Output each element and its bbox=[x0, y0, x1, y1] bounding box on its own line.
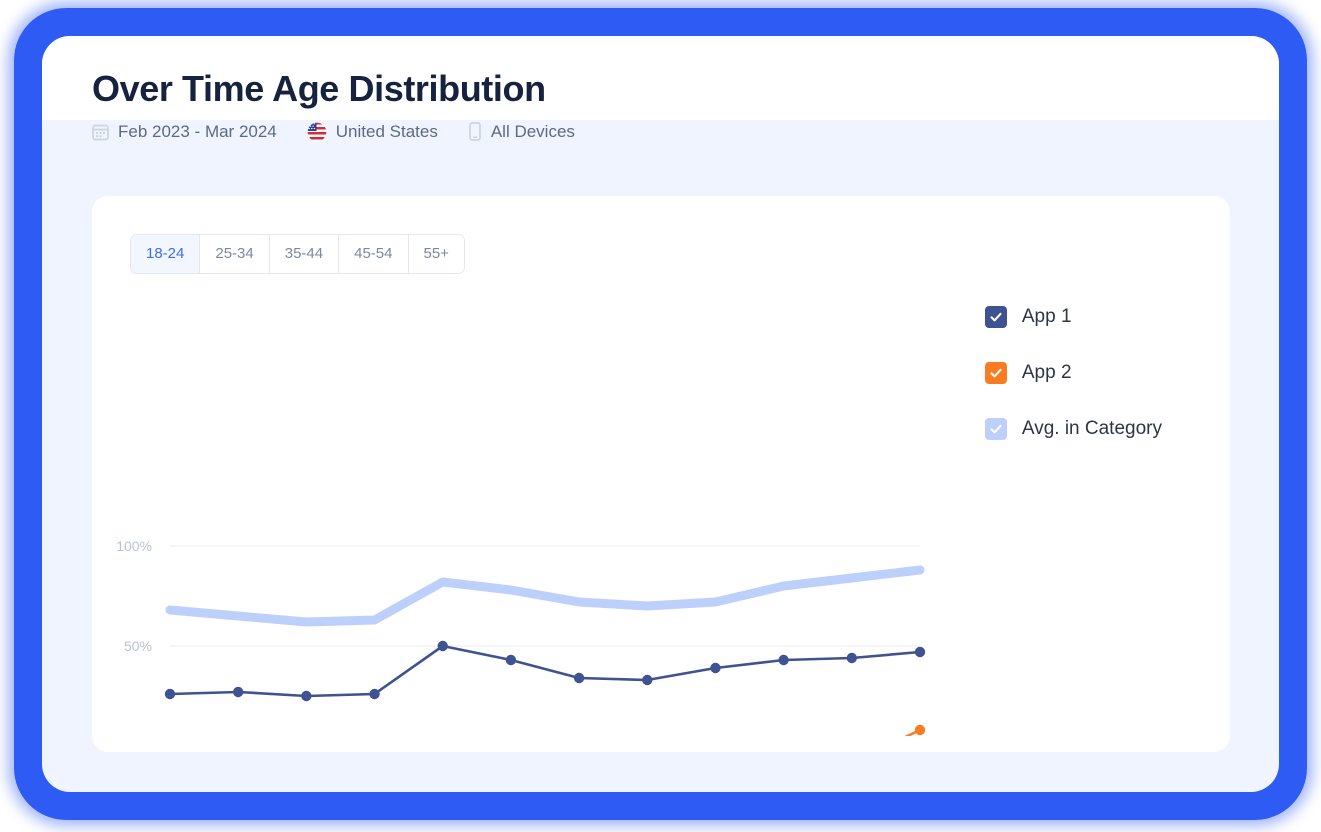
data-point bbox=[915, 725, 925, 735]
data-point bbox=[778, 655, 788, 665]
age-tab-25-34[interactable]: 25-34 bbox=[200, 235, 269, 273]
legend-label: Avg. in Category bbox=[1022, 418, 1162, 440]
device-icon bbox=[468, 122, 482, 141]
data-point bbox=[642, 675, 652, 685]
y-axis-tick-label: 100% bbox=[116, 538, 152, 554]
blue-outer-frame: Over Time Age Distribution bbox=[14, 8, 1307, 820]
legend-item-avg-in-category[interactable]: Avg. in Category bbox=[985, 418, 1162, 440]
data-point bbox=[710, 663, 720, 673]
calendar-icon bbox=[92, 123, 109, 141]
country-label: United States bbox=[336, 122, 438, 142]
device-label: All Devices bbox=[491, 122, 575, 142]
data-point bbox=[915, 647, 925, 657]
date-range-filter[interactable]: Feb 2023 - Mar 2024 bbox=[92, 122, 277, 142]
chart-legend[interactable]: App 1App 2Avg. in Category bbox=[985, 306, 1162, 440]
chart-card: 18-2425-3435-4445-5455+ 0%25%50%100%Aug … bbox=[92, 196, 1230, 752]
legend-item-app-1[interactable]: App 1 bbox=[985, 306, 1162, 328]
data-point bbox=[847, 653, 857, 663]
checkbox-checked-icon[interactable] bbox=[985, 418, 1007, 440]
meta-row: Feb 2023 - Mar 2024 bbox=[92, 122, 1229, 142]
data-point bbox=[233, 687, 243, 697]
date-range-label: Feb 2023 - Mar 2024 bbox=[118, 122, 277, 142]
checkbox-checked-icon[interactable] bbox=[985, 362, 1007, 384]
series-line-avg-in-category bbox=[170, 570, 920, 622]
us-flag-icon bbox=[307, 122, 327, 142]
age-tab-35-44[interactable]: 35-44 bbox=[270, 235, 339, 273]
app-window: Over Time Age Distribution bbox=[42, 36, 1279, 792]
country-filter[interactable]: United States bbox=[307, 122, 438, 142]
legend-label: App 2 bbox=[1022, 362, 1072, 384]
age-tab-18-24[interactable]: 18-24 bbox=[131, 235, 200, 273]
age-tab-45-54[interactable]: 45-54 bbox=[339, 235, 408, 273]
data-point bbox=[369, 689, 379, 699]
device-filter[interactable]: All Devices bbox=[468, 122, 575, 142]
legend-label: App 1 bbox=[1022, 306, 1072, 328]
series-line-app-2 bbox=[170, 730, 920, 736]
data-point bbox=[506, 655, 516, 665]
age-tab-55plus[interactable]: 55+ bbox=[409, 235, 464, 273]
data-point bbox=[574, 673, 584, 683]
data-point bbox=[438, 641, 448, 651]
page-title: Over Time Age Distribution bbox=[92, 70, 1229, 108]
age-range-tabs[interactable]: 18-2425-3435-4445-5455+ bbox=[130, 234, 465, 274]
data-point bbox=[165, 689, 175, 699]
checkbox-checked-icon[interactable] bbox=[985, 306, 1007, 328]
card-header: Over Time Age Distribution bbox=[42, 36, 1279, 120]
series-line-app-1 bbox=[170, 646, 920, 696]
data-point bbox=[301, 691, 311, 701]
y-axis-tick-label: 50% bbox=[124, 638, 152, 654]
legend-item-app-2[interactable]: App 2 bbox=[985, 362, 1162, 384]
